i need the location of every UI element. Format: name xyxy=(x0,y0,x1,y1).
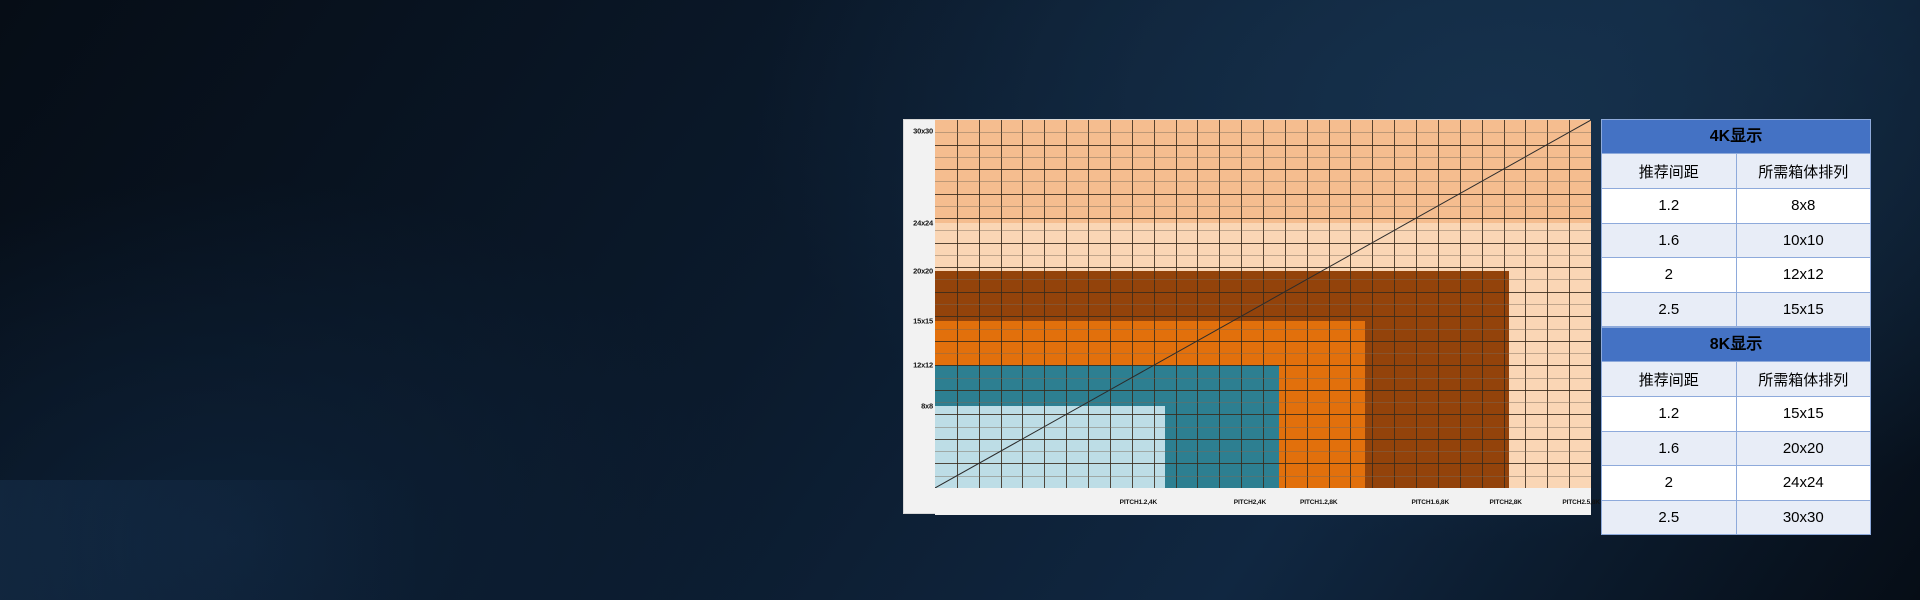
gridline-horizontal xyxy=(935,316,1591,317)
y-tick-label: 20x20 xyxy=(913,266,933,275)
y-tick-label: 15x15 xyxy=(913,316,933,325)
gridline-horizontal xyxy=(935,267,1591,268)
table-8k-title: 8K显示 xyxy=(1602,328,1871,362)
cell-array: 8x8 xyxy=(1736,189,1871,224)
x-tick-label: PITCH2.5,8K xyxy=(1562,499,1600,506)
spec-tables: 4K显示 推荐间距 所需箱体排列 1.2 8x8 1.6 10x10 2 12x… xyxy=(1601,119,1871,514)
gridline-horizontal xyxy=(935,292,1591,293)
gridline-horizontal xyxy=(935,230,1591,231)
gridline-horizontal xyxy=(935,476,1591,477)
gridline-horizontal xyxy=(935,427,1591,428)
table-row: 2 12x12 xyxy=(1602,258,1871,293)
table-4k-col-pitch: 推荐间距 xyxy=(1602,154,1737,189)
gridline-horizontal xyxy=(935,243,1591,244)
table-row: 2.5 30x30 xyxy=(1602,500,1871,535)
cell-pitch: 2.5 xyxy=(1602,500,1737,535)
cell-pitch: 1.6 xyxy=(1602,223,1737,258)
table-4k-col-array: 所需箱体排列 xyxy=(1736,154,1871,189)
x-tick-label: PITCH2,8K xyxy=(1490,499,1522,506)
table-row: 1.2 15x15 xyxy=(1602,397,1871,432)
cell-pitch: 1.2 xyxy=(1602,189,1737,224)
gridline-horizontal xyxy=(935,218,1591,219)
table-8k-col-array: 所需箱体排列 xyxy=(1736,362,1871,397)
gridline-horizontal xyxy=(935,304,1591,305)
cell-pitch: 1.6 xyxy=(1602,431,1737,466)
cell-array: 12x12 xyxy=(1736,258,1871,293)
cell-array: 15x15 xyxy=(1736,397,1871,432)
y-tick-label: 12x12 xyxy=(913,360,933,369)
y-tick-label: 8x8 xyxy=(921,401,933,410)
gridline-horizontal xyxy=(935,402,1591,403)
table-4k: 4K显示 推荐间距 所需箱体排列 1.2 8x8 1.6 10x10 2 12x… xyxy=(1601,119,1871,327)
table-row: 1.6 20x20 xyxy=(1602,431,1871,466)
gridline-horizontal xyxy=(935,279,1591,280)
gridline-horizontal xyxy=(935,353,1591,354)
gridline-horizontal xyxy=(935,169,1591,170)
cell-pitch: 2.5 xyxy=(1602,292,1737,327)
gridline-horizontal xyxy=(935,378,1591,379)
table-8k-col-pitch: 推荐间距 xyxy=(1602,362,1737,397)
cell-array: 10x10 xyxy=(1736,223,1871,258)
y-tick-label: 30x30 xyxy=(913,127,933,136)
heatmap-grid xyxy=(935,120,1591,488)
gridline-horizontal xyxy=(935,365,1591,366)
gridline-horizontal xyxy=(935,329,1591,330)
chart-panel: 8x812x1215x1520x2024x2430x30 PITCH1.2,4K… xyxy=(903,119,1590,514)
gridline-horizontal xyxy=(935,451,1591,452)
cell-array: 24x24 xyxy=(1736,466,1871,501)
table-row: 2.5 15x15 xyxy=(1602,292,1871,327)
cell-array: 15x15 xyxy=(1736,292,1871,327)
table-row: 1.6 10x10 xyxy=(1602,223,1871,258)
table-4k-title: 4K显示 xyxy=(1602,120,1871,154)
gridline-horizontal xyxy=(935,439,1591,440)
plot-area xyxy=(935,120,1591,488)
gridline-horizontal xyxy=(935,145,1591,146)
x-axis: PITCH1.2,4KPITCH2,4KPITCH1.2,8KPITCH1.6,… xyxy=(935,488,1591,515)
cell-pitch: 2 xyxy=(1602,258,1737,293)
gridline-horizontal xyxy=(935,341,1591,342)
gridline-horizontal xyxy=(935,181,1591,182)
gridline-horizontal xyxy=(935,194,1591,195)
x-tick-label: PITCH1.2,8K xyxy=(1300,499,1338,506)
cell-array: 20x20 xyxy=(1736,431,1871,466)
x-tick-label: PITCH1.2,4K xyxy=(1120,499,1158,506)
cell-pitch: 2 xyxy=(1602,466,1737,501)
table-row: 2 24x24 xyxy=(1602,466,1871,501)
gridline-horizontal xyxy=(935,255,1591,256)
gridline-horizontal xyxy=(935,414,1591,415)
y-axis: 8x812x1215x1520x2024x2430x30 xyxy=(904,120,935,488)
cell-pitch: 1.2 xyxy=(1602,397,1737,432)
gridline-horizontal xyxy=(935,463,1591,464)
gridline-horizontal xyxy=(935,157,1591,158)
slide-canvas: 8x812x1215x1520x2024x2430x30 PITCH1.2,4K… xyxy=(0,0,1920,600)
y-tick-label: 24x24 xyxy=(913,219,933,228)
x-tick-label: PITCH2,4K xyxy=(1234,499,1266,506)
gridline-horizontal xyxy=(935,132,1591,133)
gridline-horizontal xyxy=(935,206,1591,207)
cell-array: 30x30 xyxy=(1736,500,1871,535)
gridline-horizontal xyxy=(935,390,1591,391)
table-row: 1.2 8x8 xyxy=(1602,189,1871,224)
x-tick-label: PITCH1.6,8K xyxy=(1411,499,1449,506)
table-8k: 8K显示 推荐间距 所需箱体排列 1.2 15x15 1.6 20x20 2 2… xyxy=(1601,327,1871,535)
